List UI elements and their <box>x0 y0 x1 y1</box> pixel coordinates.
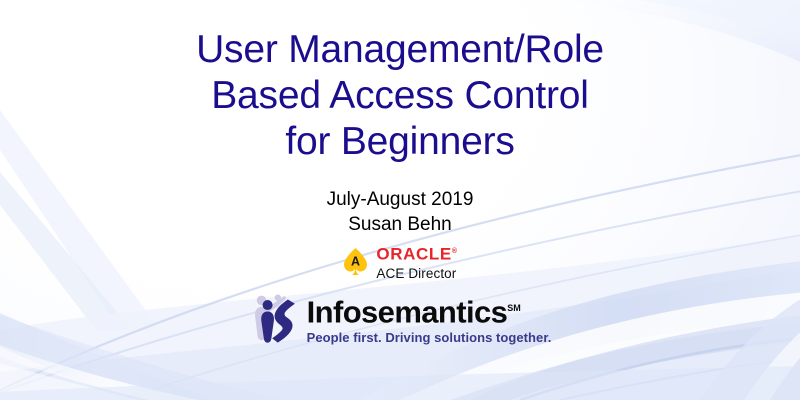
infosemantics-tagline: People first. Driving solutions together… <box>307 330 552 345</box>
presentation-date: July-August 2019 <box>327 187 474 212</box>
presenter-name: Susan Behn <box>327 212 474 237</box>
oracle-brand-text: ORACLE <box>376 245 451 264</box>
registered-mark: ® <box>452 248 458 255</box>
oracle-ace-director-logo: A ORACLE® ACE Director <box>342 243 457 281</box>
infosemantics-wordmark: InfosemanticsSM <box>307 293 521 327</box>
infosemantics-people-mark-icon <box>249 293 301 343</box>
ace-spade-icon: A <box>342 247 369 276</box>
ace-text-group: ORACLE® ACE Director <box>376 243 457 281</box>
title-line-1: User Management/Role <box>196 28 604 71</box>
svg-text:A: A <box>351 255 360 269</box>
infosemantics-logo: InfosemanticsSM People first. Driving so… <box>249 293 552 345</box>
title-line-2: Based Access Control <box>211 74 589 117</box>
service-mark: SM <box>507 303 521 313</box>
oracle-wordmark: ORACLE® <box>376 243 457 263</box>
page-title: User Management/Role Based Access Contro… <box>70 0 730 165</box>
title-line-3: for Beginners <box>285 120 514 163</box>
ace-designation: ACE Director <box>376 266 456 281</box>
slide-content: User Management/Role Based Access Contro… <box>0 0 800 400</box>
infosemantics-name: Infosemantics <box>307 294 508 329</box>
presentation-meta: July-August 2019 Susan Behn <box>327 187 474 237</box>
presentation-title-slide: User Management/Role Based Access Contro… <box>0 0 800 400</box>
infosemantics-text-group: InfosemanticsSM People first. Driving so… <box>307 293 552 345</box>
